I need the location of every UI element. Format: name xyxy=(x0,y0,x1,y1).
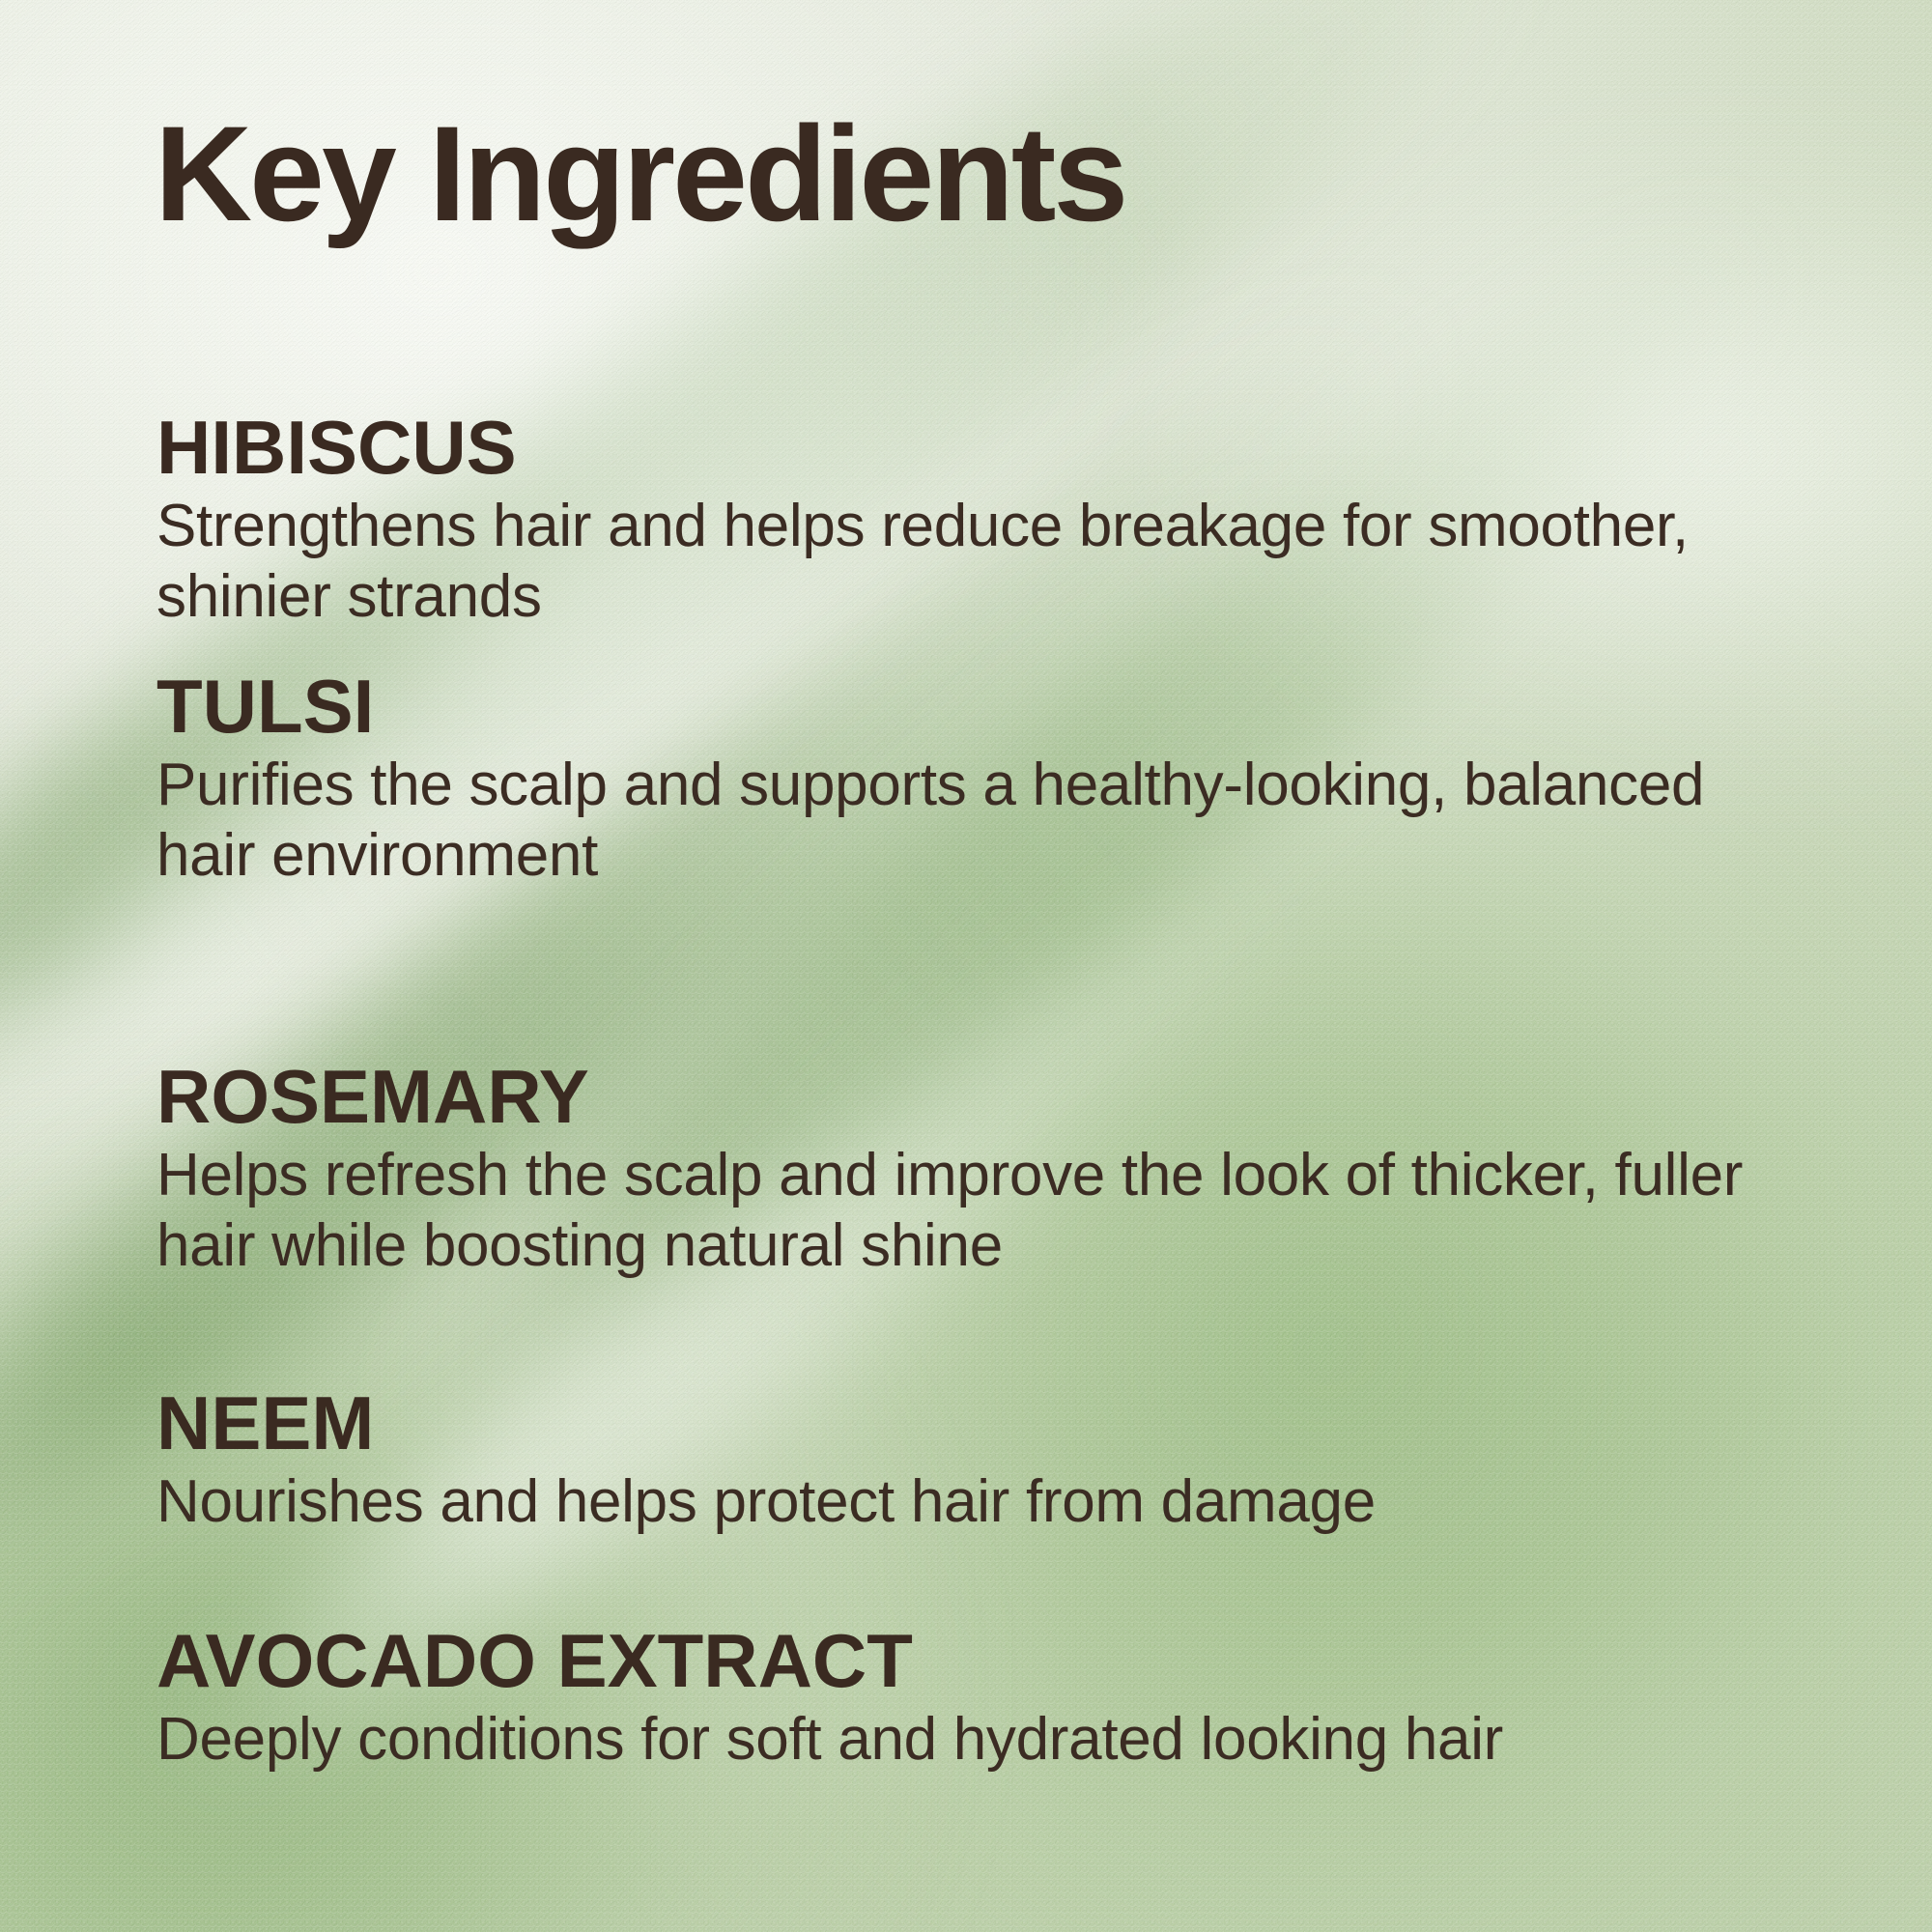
ingredient-name-neem: NEEM xyxy=(156,1385,1818,1461)
ingredient-item-tulsi: TULSI Purifies the scalp and supports a … xyxy=(156,668,1818,891)
ingredient-name-tulsi: TULSI xyxy=(156,668,1818,744)
ingredient-name-hibiscus: HIBISCUS xyxy=(156,410,1818,485)
ingredient-item-avocado-extract: AVOCADO EXTRACT Deeply conditions for so… xyxy=(156,1623,1818,1775)
ingredient-item-neem: NEEM Nourishes and helps protect hair fr… xyxy=(156,1385,1818,1537)
ingredient-item-rosemary: ROSEMARY Helps refresh the scalp and imp… xyxy=(156,1059,1818,1281)
page-title: Key Ingredients xyxy=(155,106,1125,241)
ingredient-name-rosemary: ROSEMARY xyxy=(156,1059,1818,1134)
ingredient-description-neem: Nourishes and helps protect hair from da… xyxy=(156,1466,1760,1537)
ingredient-description-avocado-extract: Deeply conditions for soft and hydrated … xyxy=(156,1704,1760,1775)
content-layer: Key Ingredients HIBISCUS Strengthens hai… xyxy=(0,0,1932,1932)
ingredient-name-avocado-extract: AVOCADO EXTRACT xyxy=(156,1623,1818,1698)
ingredient-description-tulsi: Purifies the scalp and supports a health… xyxy=(156,750,1760,891)
ingredient-item-hibiscus: HIBISCUS Strengthens hair and helps redu… xyxy=(156,410,1818,632)
key-ingredients-panel: Key Ingredients HIBISCUS Strengthens hai… xyxy=(0,0,1932,1932)
ingredient-description-hibiscus: Strengthens hair and helps reduce breaka… xyxy=(156,491,1760,632)
ingredient-description-rosemary: Helps refresh the scalp and improve the … xyxy=(156,1140,1760,1281)
